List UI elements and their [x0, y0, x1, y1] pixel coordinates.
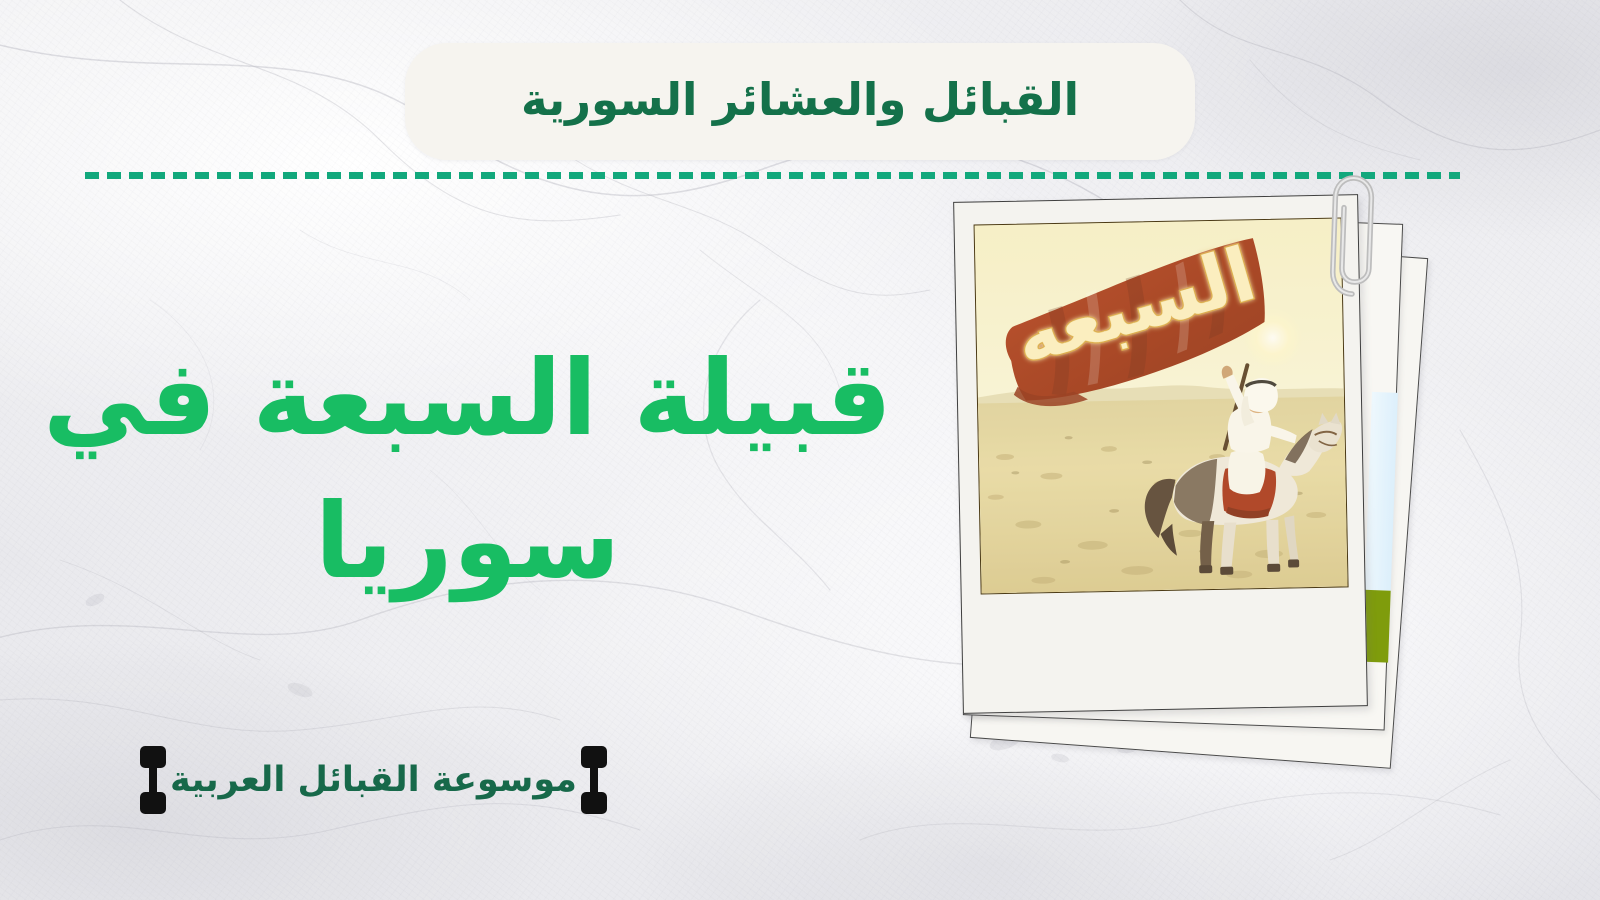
- page-title: القبائل والعشائر السورية: [521, 77, 1079, 126]
- photo-window: السبعه: [974, 217, 1349, 594]
- ibeam-bracket-left-icon: [140, 746, 166, 814]
- polaroid-frame: السبعه: [953, 194, 1368, 714]
- main-heading-line-1: قبيلة السبعة في: [0, 330, 935, 467]
- photo-stack: السبعه: [900, 170, 1520, 790]
- paperclip-icon: [1322, 171, 1387, 303]
- slide-canvas: القبائل والعشائر السورية قبيلة السبعة في…: [0, 0, 1600, 900]
- watermark-label: موسوعة القبائل العربية: [166, 763, 581, 798]
- main-heading: قبيلة السبعة في سوريا: [0, 330, 935, 611]
- header-pill: القبائل والعشائر السورية: [405, 43, 1195, 160]
- watermark: موسوعة القبائل العربية: [140, 746, 607, 814]
- ibeam-bracket-right-icon: [581, 746, 607, 814]
- main-heading-line-2: سوريا: [0, 473, 935, 610]
- horseman-with-flag-photo: السبعه: [975, 219, 1348, 594]
